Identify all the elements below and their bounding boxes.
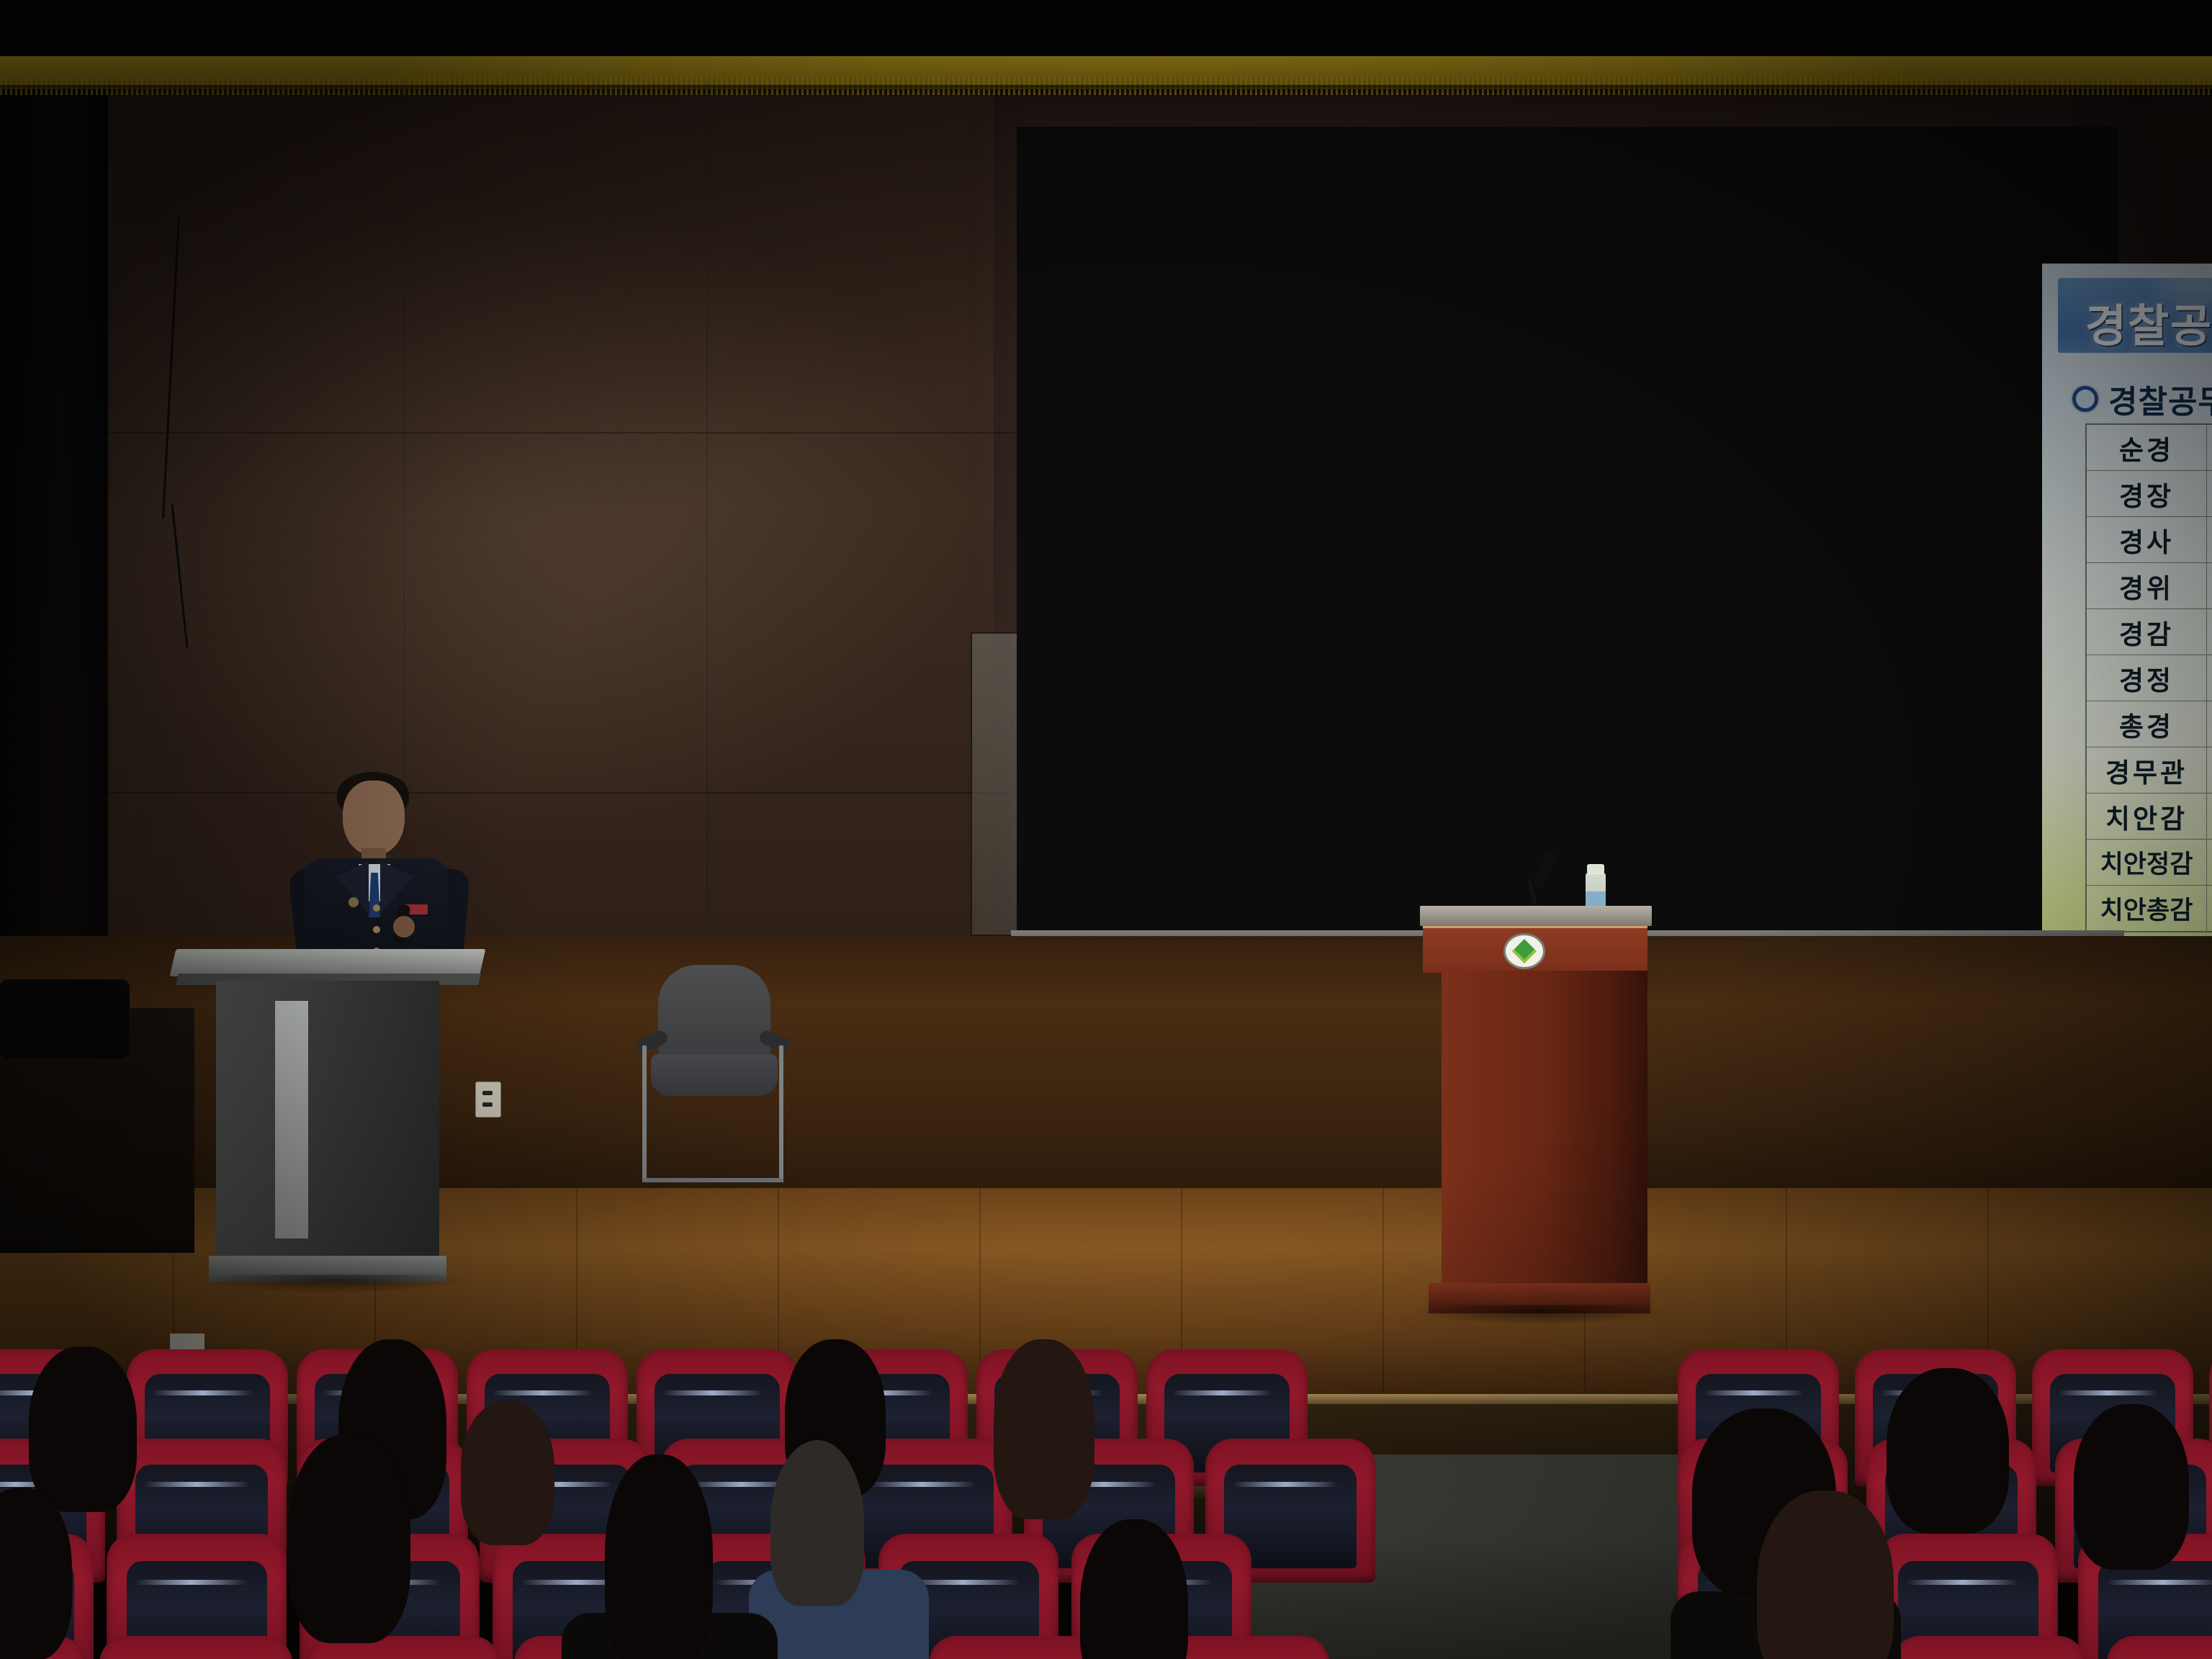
rank-insignia-cell xyxy=(2207,517,2212,563)
slide-bullet-heading: 경찰공무원 계급 xyxy=(2072,376,2212,422)
back-wall-lit-section xyxy=(108,79,994,972)
auditorium-scene: 경찰공무원 소개 경찰공무원 계급 순경일선 경찰서 및 지역경찰관서 등에서 … xyxy=(0,0,2212,1659)
rank-name-cell: 치안총감 xyxy=(2086,886,2207,932)
table-row: 총경경찰서장, 경찰청 · 지방청 과장급 xyxy=(2086,701,2212,747)
presenter-rank-insignia xyxy=(349,897,359,907)
audience-seat xyxy=(2107,1636,2212,1659)
rank-name-cell: 경정 xyxy=(2086,655,2207,701)
rank-name-cell: 총경 xyxy=(2086,701,2207,747)
audience-member-head xyxy=(2074,1404,2189,1570)
left-podium-body xyxy=(216,981,439,1269)
rank-name-cell: 순경 xyxy=(2086,424,2207,471)
slide-title-bar: 경찰공무원 소개 xyxy=(2058,278,2212,353)
chair-leg-left xyxy=(642,1046,647,1182)
table-row: 경장 xyxy=(2086,471,2212,517)
audience-member-head xyxy=(770,1440,864,1606)
rank-insignia-cell xyxy=(2207,655,2212,701)
table-row: 경위지구대 · 파출소 순찰팀장, 경찰서 일부 계장급, 경찰청 · 지방청 … xyxy=(2086,563,2212,609)
table-row: 치안총감치안총수인 경찰청장 xyxy=(2086,886,2212,932)
chair-backrest xyxy=(658,965,770,1060)
left-podium-top xyxy=(170,949,486,976)
rank-name-cell: 치안정감 xyxy=(2086,840,2207,886)
lectern-institution-emblem-icon xyxy=(1503,933,1545,969)
lectern-top-surface xyxy=(1420,906,1652,926)
audience-member-head xyxy=(29,1346,137,1512)
audience-member-head xyxy=(288,1434,410,1643)
audience-member-head xyxy=(994,1339,1094,1519)
audience-member-head xyxy=(1757,1491,1894,1659)
rank-name-cell: 치안감 xyxy=(2086,793,2207,840)
presenter-head xyxy=(343,781,405,855)
rank-name-cell: 경사 xyxy=(2086,517,2207,563)
wall-seam xyxy=(108,432,1015,433)
rank-insignia-cell xyxy=(2207,886,2212,932)
slide-title: 경찰공무원 소개 xyxy=(2085,289,2212,354)
valance-shadow xyxy=(0,85,2212,98)
police-officer-presenter xyxy=(287,763,474,979)
left-podium-light-panel xyxy=(275,1001,308,1238)
rank-name-cell: 경위 xyxy=(2086,563,2207,609)
rank-name-cell: 경무관 xyxy=(2086,747,2207,793)
rank-insignia-cell xyxy=(2207,840,2212,886)
lectern-shadow xyxy=(1419,1305,1663,1325)
rank-insignia-cell xyxy=(2207,609,2212,655)
stage-curtain-left xyxy=(0,72,108,972)
table-row: 치안감경찰청 국장 및 각 시 · 도 지방경찰청장 xyxy=(2086,793,2212,840)
audience-member-head xyxy=(1887,1368,2009,1534)
audience-member-head xyxy=(461,1401,554,1545)
table-row: 경무관지방청 차장 및 부장, 경찰교육기관 교수부장 xyxy=(2086,747,2212,793)
chair-seat xyxy=(651,1054,778,1096)
table-row: 경정경찰서 과장, 경찰청 · 지방청 계장급 xyxy=(2086,655,2212,701)
police-rank-table: 순경일선 경찰서 및 지역경찰관서 등에서 치안실무자로서국민과 가장 밀접한 … xyxy=(2085,423,2212,932)
lectern-column xyxy=(1442,971,1606,1287)
rank-insignia-cell xyxy=(2207,471,2212,517)
rank-name-cell: 경감 xyxy=(2086,609,2207,655)
rank-name-cell: 경장 xyxy=(2086,471,2207,517)
chair-leg-crossbar xyxy=(642,1178,783,1182)
audience-seat xyxy=(99,1636,292,1659)
table-row: 경감지구대장 · 파출소장, 경찰서 주요계장 및 팀장, 경찰청 · 지방청 … xyxy=(2086,609,2212,655)
wall-seam xyxy=(108,792,1015,793)
wall-panel-edge xyxy=(706,79,707,972)
table-row: 치안정감경찰청 차장, 경찰대학장, 서울 · 경기 · 부산지방경찰청장 xyxy=(2086,840,2212,886)
bullet-circle-icon xyxy=(2072,386,2098,412)
table-row: 경사 xyxy=(2086,517,2212,563)
presenter-hand xyxy=(393,916,415,938)
speaker-grille-left xyxy=(971,632,1018,936)
rank-insignia-cell xyxy=(2207,793,2212,840)
chair-leg-right xyxy=(779,1046,783,1182)
bullet-heading-label: 경찰공무원 계급 xyxy=(2108,376,2212,422)
audience-member-head xyxy=(1080,1519,1188,1659)
audience-seating xyxy=(0,1354,2212,1659)
projection-screen: 경찰공무원 소개 경찰공무원 계급 순경일선 경찰서 및 지역경찰관서 등에서 … xyxy=(1017,127,2118,942)
left-podium-shadow xyxy=(206,1274,465,1293)
stage-chair xyxy=(631,965,796,1195)
rank-insignia-cell xyxy=(2207,747,2212,793)
rank-insignia-cell xyxy=(2207,563,2212,609)
audience-member-head xyxy=(605,1455,713,1659)
foreground-equipment-box xyxy=(0,979,130,1058)
audience-seat xyxy=(1892,1636,2085,1659)
wall-panel-edge xyxy=(108,79,109,972)
table-row: 순경일선 경찰서 및 지역경찰관서 등에서 치안실무자로서국민과 가장 밀접한 … xyxy=(2086,424,2212,471)
lectern-side-panel xyxy=(1606,971,1647,1287)
rank-insignia-cell xyxy=(2207,424,2212,471)
rank-insignia-cell xyxy=(2207,701,2212,747)
wall-outlet-icon xyxy=(475,1082,501,1118)
